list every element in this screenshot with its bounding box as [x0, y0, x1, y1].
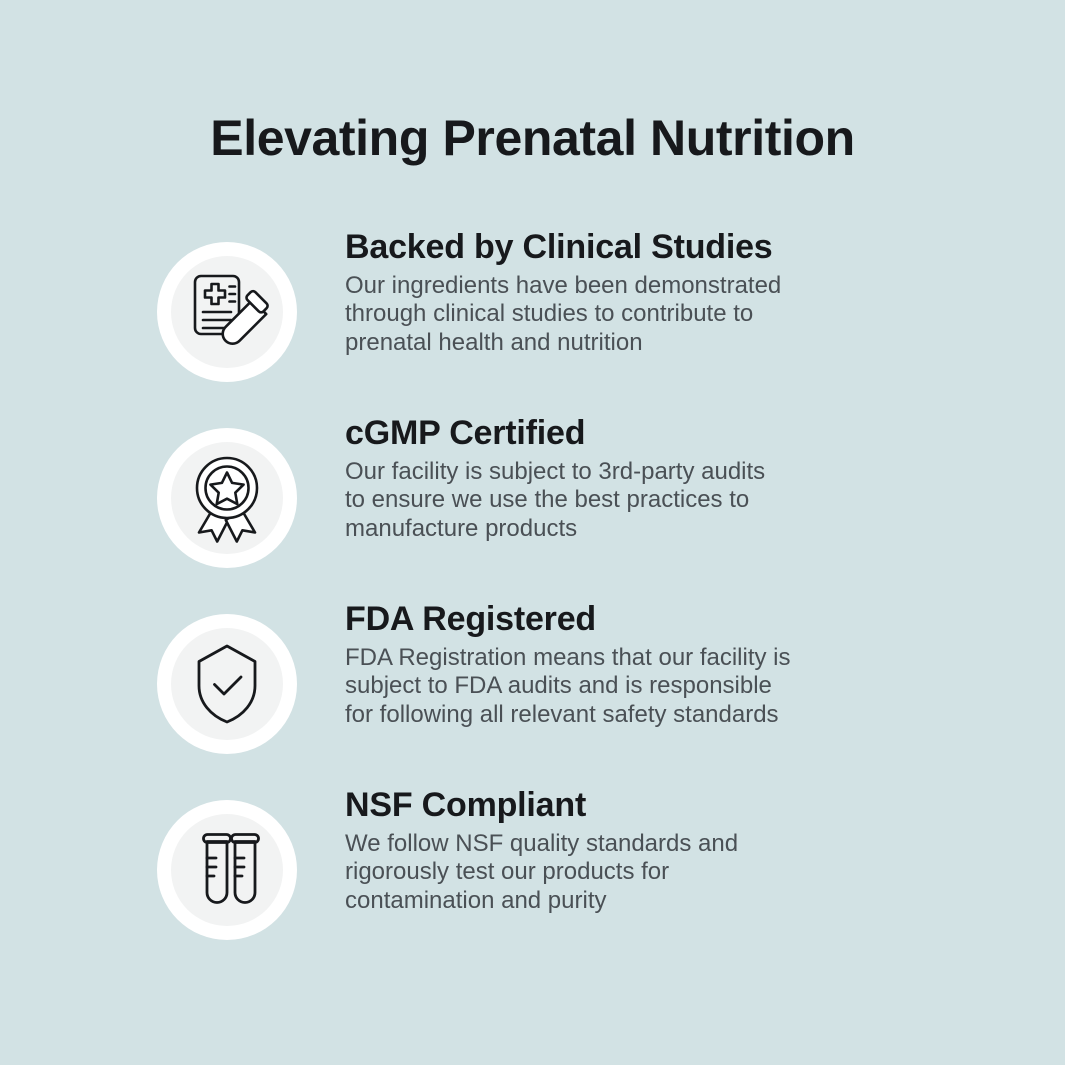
medallion-outer-circle	[157, 614, 297, 754]
feature-row: NSF Compliant We follow NSF quality stan…	[0, 786, 1065, 972]
feature-heading: Backed by Clinical Studies	[345, 228, 885, 266]
feature-body: Our facility is subject to 3rd-party aud…	[345, 458, 885, 543]
feature-body-line: manufacture products	[345, 515, 885, 543]
feature-body: We follow NSF quality standards and rigo…	[345, 830, 885, 915]
feature-row: FDA Registered FDA Registration means th…	[0, 600, 1065, 786]
test-tubes-icon	[181, 824, 273, 916]
feature-body: Our ingredients have been demonstrated t…	[345, 272, 885, 357]
feature-body-line: We follow NSF quality standards and	[345, 830, 885, 858]
feature-body-line: Our ingredients have been demonstrated	[345, 272, 885, 300]
feature-body-line: contamination and purity	[345, 887, 885, 915]
feature-text-block: FDA Registered FDA Registration means th…	[345, 600, 885, 729]
feature-body-line: prenatal health and nutrition	[345, 329, 885, 357]
feature-text-block: NSF Compliant We follow NSF quality stan…	[345, 786, 885, 915]
medallion-outer-circle	[157, 242, 297, 382]
feature-heading: NSF Compliant	[345, 786, 885, 824]
feature-body-line: FDA Registration means that our facility…	[345, 644, 885, 672]
feature-body: FDA Registration means that our facility…	[345, 644, 885, 729]
feature-text-block: cGMP Certified Our facility is subject t…	[345, 414, 885, 543]
feature-heading: cGMP Certified	[345, 414, 885, 452]
clipboard-vial-icon	[181, 266, 273, 358]
shield-check-icon	[181, 638, 273, 730]
feature-body-line: for following all relevant safety standa…	[345, 701, 885, 729]
feature-body-line: to ensure we use the best practices to	[345, 486, 885, 514]
feature-text-block: Backed by Clinical Studies Our ingredien…	[345, 228, 885, 357]
feature-body-line: Our facility is subject to 3rd-party aud…	[345, 458, 885, 486]
feature-row: cGMP Certified Our facility is subject t…	[0, 414, 1065, 600]
feature-row: Backed by Clinical Studies Our ingredien…	[0, 228, 1065, 414]
award-badge-icon	[181, 452, 273, 544]
medallion-outer-circle	[157, 800, 297, 940]
feature-body-line: rigorously test our products for	[345, 858, 885, 886]
infographic-page: Elevating Prenatal Nutrition	[0, 0, 1065, 1065]
feature-body-line: through clinical studies to contribute t…	[345, 300, 885, 328]
feature-list: Backed by Clinical Studies Our ingredien…	[0, 228, 1065, 972]
feature-body-line: subject to FDA audits and is responsible	[345, 672, 885, 700]
page-title: Elevating Prenatal Nutrition	[0, 112, 1065, 165]
feature-heading: FDA Registered	[345, 600, 885, 638]
medallion-outer-circle	[157, 428, 297, 568]
